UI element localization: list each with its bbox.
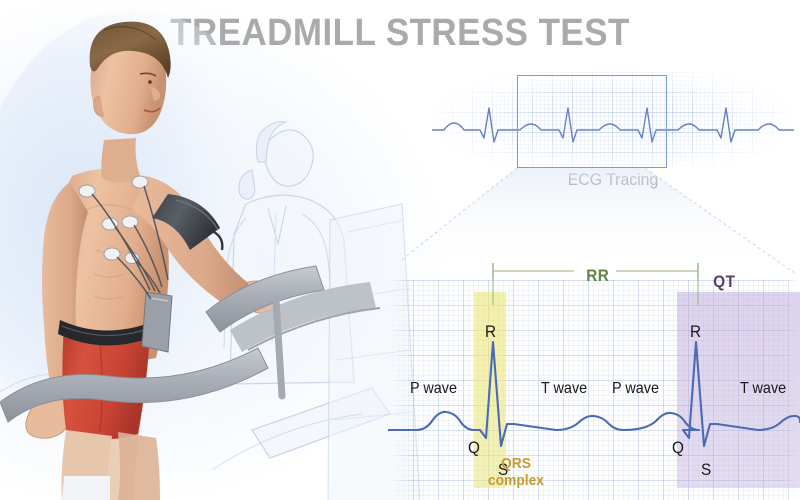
q-point-label-2: Q <box>672 438 684 458</box>
p-wave-label-2: P wave <box>612 380 659 398</box>
p-wave-label-1: P wave <box>410 380 457 398</box>
rr-interval-label: RR <box>586 266 609 286</box>
t-wave-label-1: T wave <box>541 380 587 398</box>
illustration-canvas: TREADMILL STRESS TEST <box>0 0 800 500</box>
qrs-complex-label-line2: complex <box>465 472 566 489</box>
qrs-complex-label: QRS complex <box>465 455 566 490</box>
r-peak-label-2: R <box>690 322 701 342</box>
s-point-label-2: S <box>701 460 711 480</box>
qrs-complex-label-line1: QRS <box>465 455 566 472</box>
t-wave-label-2: T wave <box>740 380 786 398</box>
holter-monitor <box>142 292 172 352</box>
r-peak-label-1: R <box>485 322 496 342</box>
patient-treadmill-illustration <box>0 0 420 500</box>
qt-interval-label: QT <box>713 272 735 292</box>
